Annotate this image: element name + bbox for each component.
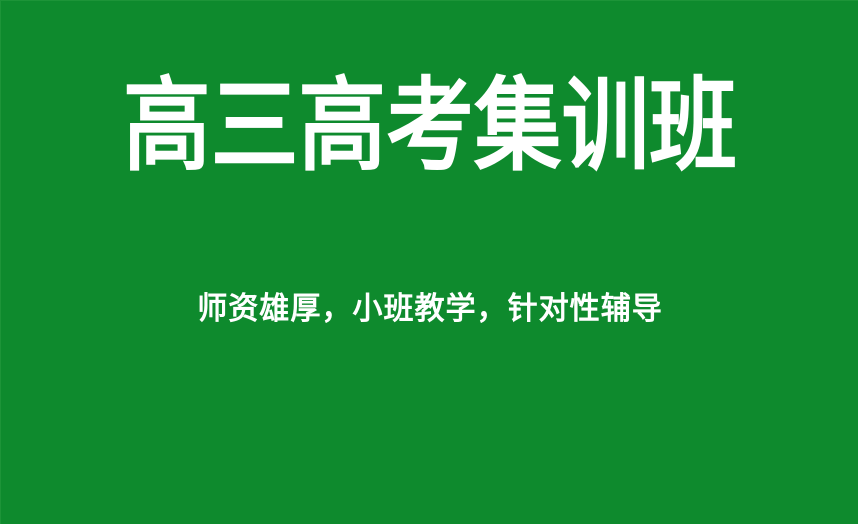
headline-char-1: 高 [122, 75, 210, 177]
headline-char-5: 集 [473, 75, 561, 177]
headline-container: 高 三 高 考 集 训 班 [1, 63, 858, 189]
headline-char-4: 考 [386, 75, 474, 177]
page-title: 高 三 高 考 集 训 班 [122, 75, 736, 177]
headline-char-2: 三 [210, 75, 298, 177]
headline-char-7: 班 [649, 75, 737, 177]
subtitle-text: 师资雄厚，小班教学，针对性辅导 [197, 292, 663, 328]
promo-banner: 高 三 高 考 集 训 班 师资雄厚，小班教学，针对性辅导 [0, 0, 858, 524]
empty-background-region [1, 346, 858, 524]
headline-char-3: 高 [298, 75, 386, 177]
headline-char-6: 训 [561, 75, 649, 177]
subtitle-container: 师资雄厚，小班教学，针对性辅导 [1, 285, 858, 335]
